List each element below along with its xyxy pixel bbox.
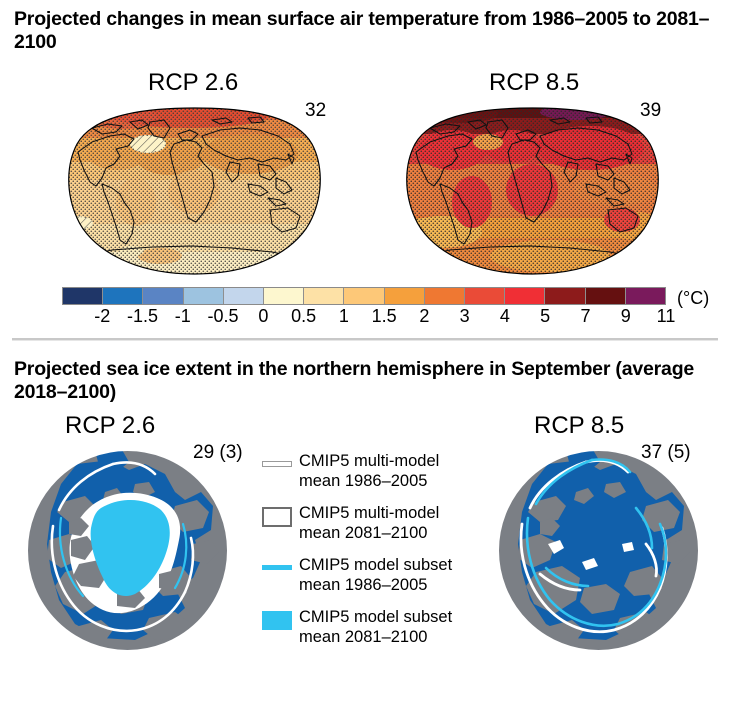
colorbar-segment-6 bbox=[304, 288, 344, 304]
colorbar-segment-12 bbox=[545, 288, 585, 304]
page-title-sea-ice: Projected sea ice extent in the northern… bbox=[14, 358, 714, 404]
legend-line2: mean 2081–2100 bbox=[299, 524, 427, 542]
panel-label-rcp85-temperature: RCP 8.5 bbox=[489, 70, 579, 96]
legend-swatch-white-box bbox=[262, 507, 292, 527]
colorbar-tick-0.5: 0.5 bbox=[291, 306, 316, 326]
temperature-colorbar bbox=[62, 287, 666, 305]
colorbar-tick-4: 4 bbox=[500, 306, 510, 326]
colorbar-tick-1.5: 1.5 bbox=[372, 306, 397, 326]
panel-label-rcp26-sea-ice: RCP 2.6 bbox=[65, 413, 155, 439]
legend-line2: mean 1986–2005 bbox=[299, 576, 427, 594]
legend-label-multimodel-2081-2100: CMIP5 multi-model mean 2081–2100 bbox=[299, 504, 439, 543]
sea-ice-map-rcp26 bbox=[25, 448, 230, 653]
colorbar-segment-8 bbox=[385, 288, 425, 304]
colorbar-tick-11: 11 bbox=[657, 306, 676, 326]
colorbar-unit-label: (°C) bbox=[677, 288, 709, 308]
panel-label-rcp85-sea-ice: RCP 8.5 bbox=[534, 413, 624, 439]
sea-ice-map-rcp85 bbox=[496, 448, 701, 653]
colorbar-tick--0.5: -0.5 bbox=[208, 306, 239, 326]
legend-item-multimodel-1986-2005: CMIP5 multi-model mean 1986–2005 bbox=[262, 452, 467, 491]
colorbar-segment-7 bbox=[344, 288, 384, 304]
legend-swatch-cyan-box bbox=[262, 611, 292, 630]
colorbar-tick--1.5: -1.5 bbox=[127, 306, 158, 326]
sea-ice-legend: CMIP5 multi-model mean 1986–2005 CMIP5 m… bbox=[262, 452, 467, 660]
colorbar-tick-3: 3 bbox=[460, 306, 470, 326]
legend-line2: mean 1986–2005 bbox=[299, 472, 427, 490]
legend-item-subset-2081-2100: CMIP5 model subset mean 2081–2100 bbox=[262, 608, 467, 647]
legend-line1: CMIP5 model subset bbox=[299, 608, 452, 626]
colorbar-tick-7: 7 bbox=[580, 306, 590, 326]
legend-label-multimodel-1986-2005: CMIP5 multi-model mean 1986–2005 bbox=[299, 452, 439, 491]
colorbar-segment-5 bbox=[264, 288, 304, 304]
legend-swatch-cyan-line bbox=[262, 565, 292, 570]
page-title-temperature: Projected changes in mean surface air te… bbox=[14, 8, 714, 54]
world-map-rcp85 bbox=[400, 106, 665, 276]
colorbar-tick--2: -2 bbox=[94, 306, 110, 326]
legend-line1: CMIP5 model subset bbox=[299, 556, 452, 574]
legend-item-subset-1986-2005: CMIP5 model subset mean 1986–2005 bbox=[262, 556, 467, 595]
colorbar-segment-3 bbox=[184, 288, 224, 304]
colorbar-segment-1 bbox=[103, 288, 143, 304]
colorbar-segment-10 bbox=[465, 288, 505, 304]
legend-swatch-thin-white-line bbox=[262, 461, 292, 467]
colorbar-segment-0 bbox=[63, 288, 103, 304]
panel-label-rcp26-temperature: RCP 2.6 bbox=[148, 70, 238, 96]
world-map-rcp26 bbox=[62, 106, 327, 276]
legend-line2: mean 2081–2100 bbox=[299, 628, 427, 646]
colorbar-segment-13 bbox=[586, 288, 626, 304]
colorbar-segment-4 bbox=[224, 288, 264, 304]
colorbar-tick-2: 2 bbox=[419, 306, 429, 326]
colorbar-tick--1: -1 bbox=[175, 306, 191, 326]
colorbar-tick-labels: -2-1.5-1-0.500.511.523457911 bbox=[62, 306, 666, 328]
legend-item-multimodel-2081-2100: CMIP5 multi-model mean 2081–2100 bbox=[262, 504, 467, 543]
colorbar-tick-1: 1 bbox=[339, 306, 349, 326]
colorbar-segment-14 bbox=[626, 288, 665, 304]
legend-line1: CMIP5 multi-model bbox=[299, 504, 439, 522]
legend-label-subset-2081-2100: CMIP5 model subset mean 2081–2100 bbox=[299, 608, 452, 647]
colorbar-tick-9: 9 bbox=[621, 306, 631, 326]
colorbar-segment-11 bbox=[505, 288, 545, 304]
legend-line1: CMIP5 multi-model bbox=[299, 452, 439, 470]
colorbar-tick-5: 5 bbox=[540, 306, 550, 326]
section-divider bbox=[12, 338, 718, 341]
colorbar-segment-9 bbox=[425, 288, 465, 304]
legend-label-subset-1986-2005: CMIP5 model subset mean 1986–2005 bbox=[299, 556, 452, 595]
colorbar-tick-0: 0 bbox=[258, 306, 268, 326]
colorbar-segment-2 bbox=[143, 288, 183, 304]
